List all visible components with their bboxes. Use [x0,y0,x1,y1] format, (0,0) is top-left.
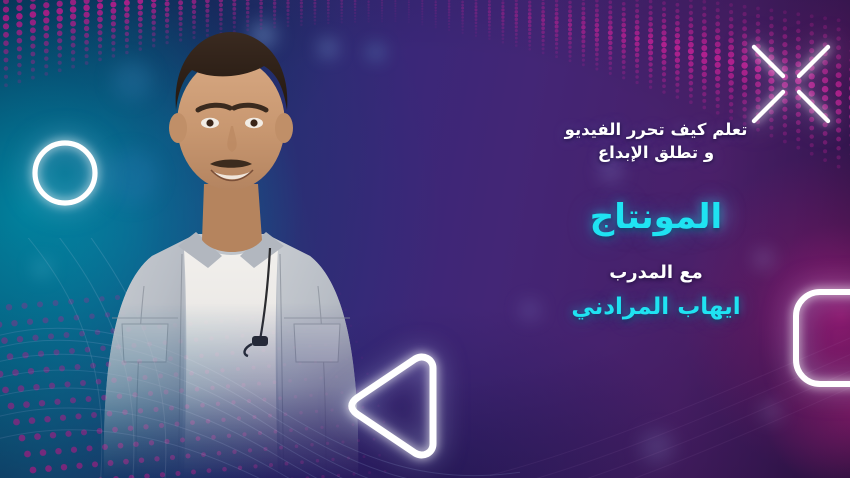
headline-title: المونتاج [470,199,842,236]
play-triangle-icon [344,352,448,460]
bokeh-spot [755,250,773,268]
instructor-portrait [92,18,370,478]
rounded-rectangle-icon [790,286,850,390]
x-mark-icon [745,38,837,130]
promo-banner: تعلم كيف تحرر الفيديو و تطلق الإبداع الم… [0,0,850,478]
bokeh-spot [700,200,730,230]
circle-outline-icon [28,136,102,210]
